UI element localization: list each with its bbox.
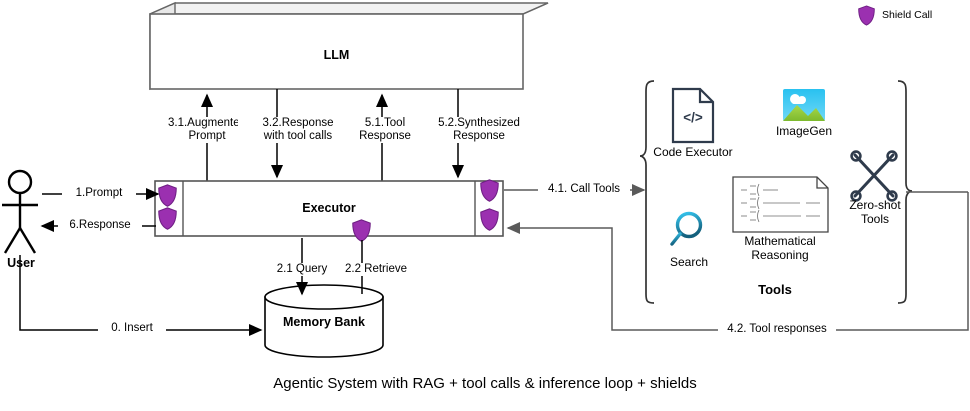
crossed-wrenches-icon (852, 152, 897, 201)
tool-label-search: Search (660, 255, 718, 269)
tool-label-mathematical-reasoning: Mathematical Reasoning (728, 234, 832, 262)
magnifier-icon (672, 214, 701, 245)
image-icon (783, 89, 825, 121)
diagram-canvas: </> (0, 0, 970, 411)
llm-label: LLM (150, 48, 523, 62)
shield-icon-memory (353, 220, 370, 241)
edge-label-insert: 0. Insert (98, 322, 166, 335)
tool-label-imagegen: ImageGen (768, 124, 840, 138)
llm-cube (150, 3, 548, 89)
actor-icon (2, 171, 38, 253)
tool-label-code-executor: Code Executor (648, 145, 738, 159)
user-label: User (0, 256, 42, 270)
legend-shield-label: Shield Call (882, 9, 932, 21)
math-document-icon (733, 177, 828, 232)
edge-label-response-with-tool-calls: 3.2.Response with tool calls (238, 117, 358, 143)
svg-text:</>: </> (683, 110, 703, 125)
tool-label-zero-shot-tools: Zero-shot Tools (838, 198, 912, 226)
edge-label-response: 6.Response (58, 219, 142, 232)
code-document-icon: </> (673, 89, 713, 142)
edge-label-prompt: 1.Prompt (62, 187, 136, 200)
tools-left-brace (640, 81, 654, 303)
edge-label-call-tools: 4.1. Call Tools (538, 183, 630, 196)
executor-label: Executor (183, 201, 475, 215)
edge-insert (20, 255, 261, 330)
diagram-caption: Agentic System with RAG + tool calls & i… (0, 375, 970, 392)
edge-label-synthesized-response: 5.2.Synthesized Response (425, 117, 533, 143)
edge-label-tool-response: 5.1.Tool Response (345, 117, 425, 143)
edge-label-retrieve: 2.2 Retrieve (335, 263, 417, 276)
edge-label-tool-responses: 4.2. Tool responses (718, 323, 836, 336)
edge-label-query: 2.1 Query (268, 263, 336, 276)
shield-icon-legend (859, 6, 875, 25)
memory-bank-label: Memory Bank (265, 315, 383, 329)
tools-group-label: Tools (700, 282, 850, 297)
